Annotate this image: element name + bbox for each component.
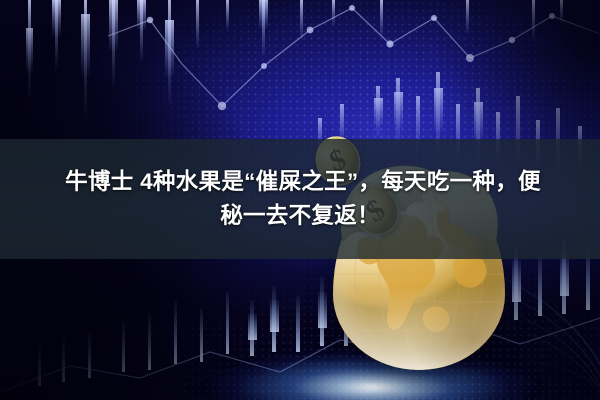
headline-band: 牛博士 4种水果是“催屎之王”，每天吃一种，便 秘一去不复返！: [0, 139, 600, 259]
thumbnail-canvas: $ $ 牛博士 4种水果是“催屎之王”，每天吃一种，便 秘一去不复返！: [0, 0, 600, 400]
headline-line-1: 牛博士 4种水果是“催屎之王”，每天吃一种，便: [59, 167, 541, 197]
headline-line-2: 秘一去不复返！: [220, 201, 380, 231]
